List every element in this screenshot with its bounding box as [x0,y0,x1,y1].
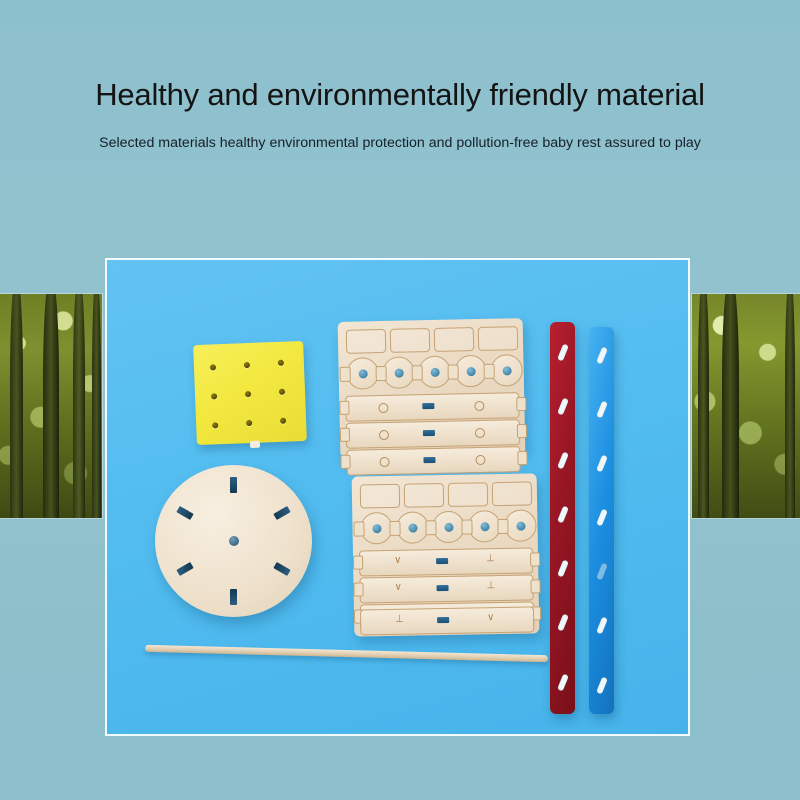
tree-trunk [759,294,773,518]
disc-slot [230,477,237,493]
wooden-board-bars: ∨ ⊥ ∨ ⊥ ⊥ ∨ ⊥ [352,473,540,636]
tree-trunk [10,294,23,518]
tree-trunk [698,294,709,518]
product-marketing-banner: Healthy and environmentally friendly mat… [0,0,800,800]
disc-slot [273,506,290,520]
tree-trunk [73,294,85,518]
page-title: Healthy and environmentally friendly mat… [0,76,800,114]
product-photo: ∨ ⊥ ∨ ⊥ ⊥ ∨ ⊥ [105,258,690,736]
page-subtitle: Selected materials healthy environmental… [0,133,800,153]
forest-photo-left [0,294,102,518]
tree-trunk [722,294,739,518]
disc-slot [176,562,193,576]
tree-trunk [785,294,795,518]
forest-photo-right [692,294,800,518]
wooden-disc [155,465,312,617]
wooden-dowel-rod [145,645,548,663]
disc-center-hole [229,536,239,546]
tree-trunk [43,294,59,518]
tree-trunk [92,294,101,518]
disc-slot [176,506,193,520]
wooden-board-wheels [338,318,526,458]
red-plastic-strip [550,322,575,714]
disc-slot [273,562,290,576]
disc-slot [230,589,237,605]
forest-scene-left [0,294,102,518]
blue-plastic-strip [589,327,614,714]
product-photo-contents: ∨ ⊥ ∨ ⊥ ⊥ ∨ ⊥ [107,260,688,734]
forest-scene-right [692,294,800,518]
yellow-pegboard [193,341,307,445]
plate-tab [250,441,260,448]
